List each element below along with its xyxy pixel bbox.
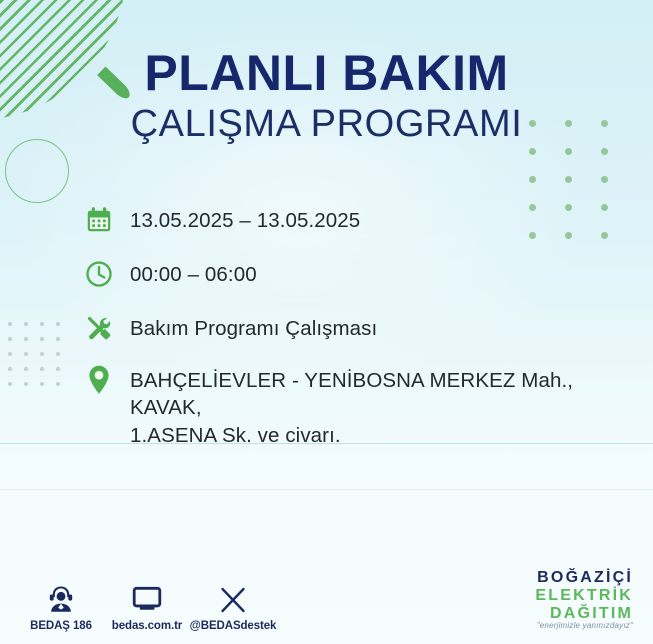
section-divider-lower xyxy=(0,489,653,490)
date-range-text: 13.05.2025 – 13.05.2025 xyxy=(130,203,360,234)
brand-line-2: ELEKTRİK xyxy=(535,588,633,604)
contact-list: BEDAŞ 186 bedas.com.tr xyxy=(18,579,276,632)
brand-logo: BOĞAZİÇİ ELEKTRİK DAĞITIM "enerjimizle y… xyxy=(535,570,633,630)
monitor-icon xyxy=(131,579,163,615)
brand-line-1: BOĞAZİÇİ xyxy=(535,570,633,586)
contact-label-x: @BEDASdestek xyxy=(190,620,277,632)
calendar-icon xyxy=(82,203,116,237)
location-line-2: 1.ASENA Sk. ve civarı. xyxy=(130,424,341,447)
circle-outline-decoration xyxy=(5,139,69,203)
x-twitter-icon xyxy=(218,579,248,615)
brand-line-3: DAĞITIM xyxy=(535,606,633,622)
brand-tagline: "enerjimizle yanınızdayız" xyxy=(535,622,633,630)
contact-item-phone[interactable]: BEDAŞ 186 xyxy=(18,579,104,632)
time-range-text: 00:00 – 06:00 xyxy=(130,257,257,288)
contact-item-x[interactable]: @BEDASdestek xyxy=(190,579,276,632)
poster-header: PLANLI BAKIM ÇALIŞMA PROGRAMI xyxy=(0,48,653,147)
work-type-text: Bakım Programı Çalışması xyxy=(130,311,377,342)
location-text: BAHÇELİEVLER - YENİBOSNA MERKEZ Mah., KA… xyxy=(130,363,627,449)
planned-maintenance-poster: PLANLI BAKIM ÇALIŞMA PROGRAMI xyxy=(0,0,653,644)
contact-label-website: bedas.com.tr xyxy=(112,620,182,632)
poster-footer: BEDAŞ 186 bedas.com.tr xyxy=(0,552,653,644)
info-list: 13.05.2025 – 13.05.2025 00:00 – 06:00 xyxy=(82,203,627,466)
page-subtitle: ÇALIŞMA PROGRAMI xyxy=(0,103,653,147)
clock-icon xyxy=(82,257,116,291)
location-pin-icon xyxy=(82,363,116,397)
tools-icon xyxy=(82,311,116,345)
headset-support-icon xyxy=(45,579,77,615)
info-row-time: 00:00 – 06:00 xyxy=(82,257,627,291)
page-title: PLANLI BAKIM xyxy=(0,48,653,99)
contact-label-phone: BEDAŞ 186 xyxy=(30,620,92,632)
info-row-work-type: Bakım Programı Çalışması xyxy=(82,311,627,345)
dot-grid-left-decoration xyxy=(8,322,72,397)
info-row-date: 13.05.2025 – 13.05.2025 xyxy=(82,203,627,237)
location-line-1: BAHÇELİEVLER - YENİBOSNA MERKEZ Mah., KA… xyxy=(130,369,573,419)
info-row-location: BAHÇELİEVLER - YENİBOSNA MERKEZ Mah., KA… xyxy=(82,363,627,449)
contact-item-website[interactable]: bedas.com.tr xyxy=(104,579,190,632)
